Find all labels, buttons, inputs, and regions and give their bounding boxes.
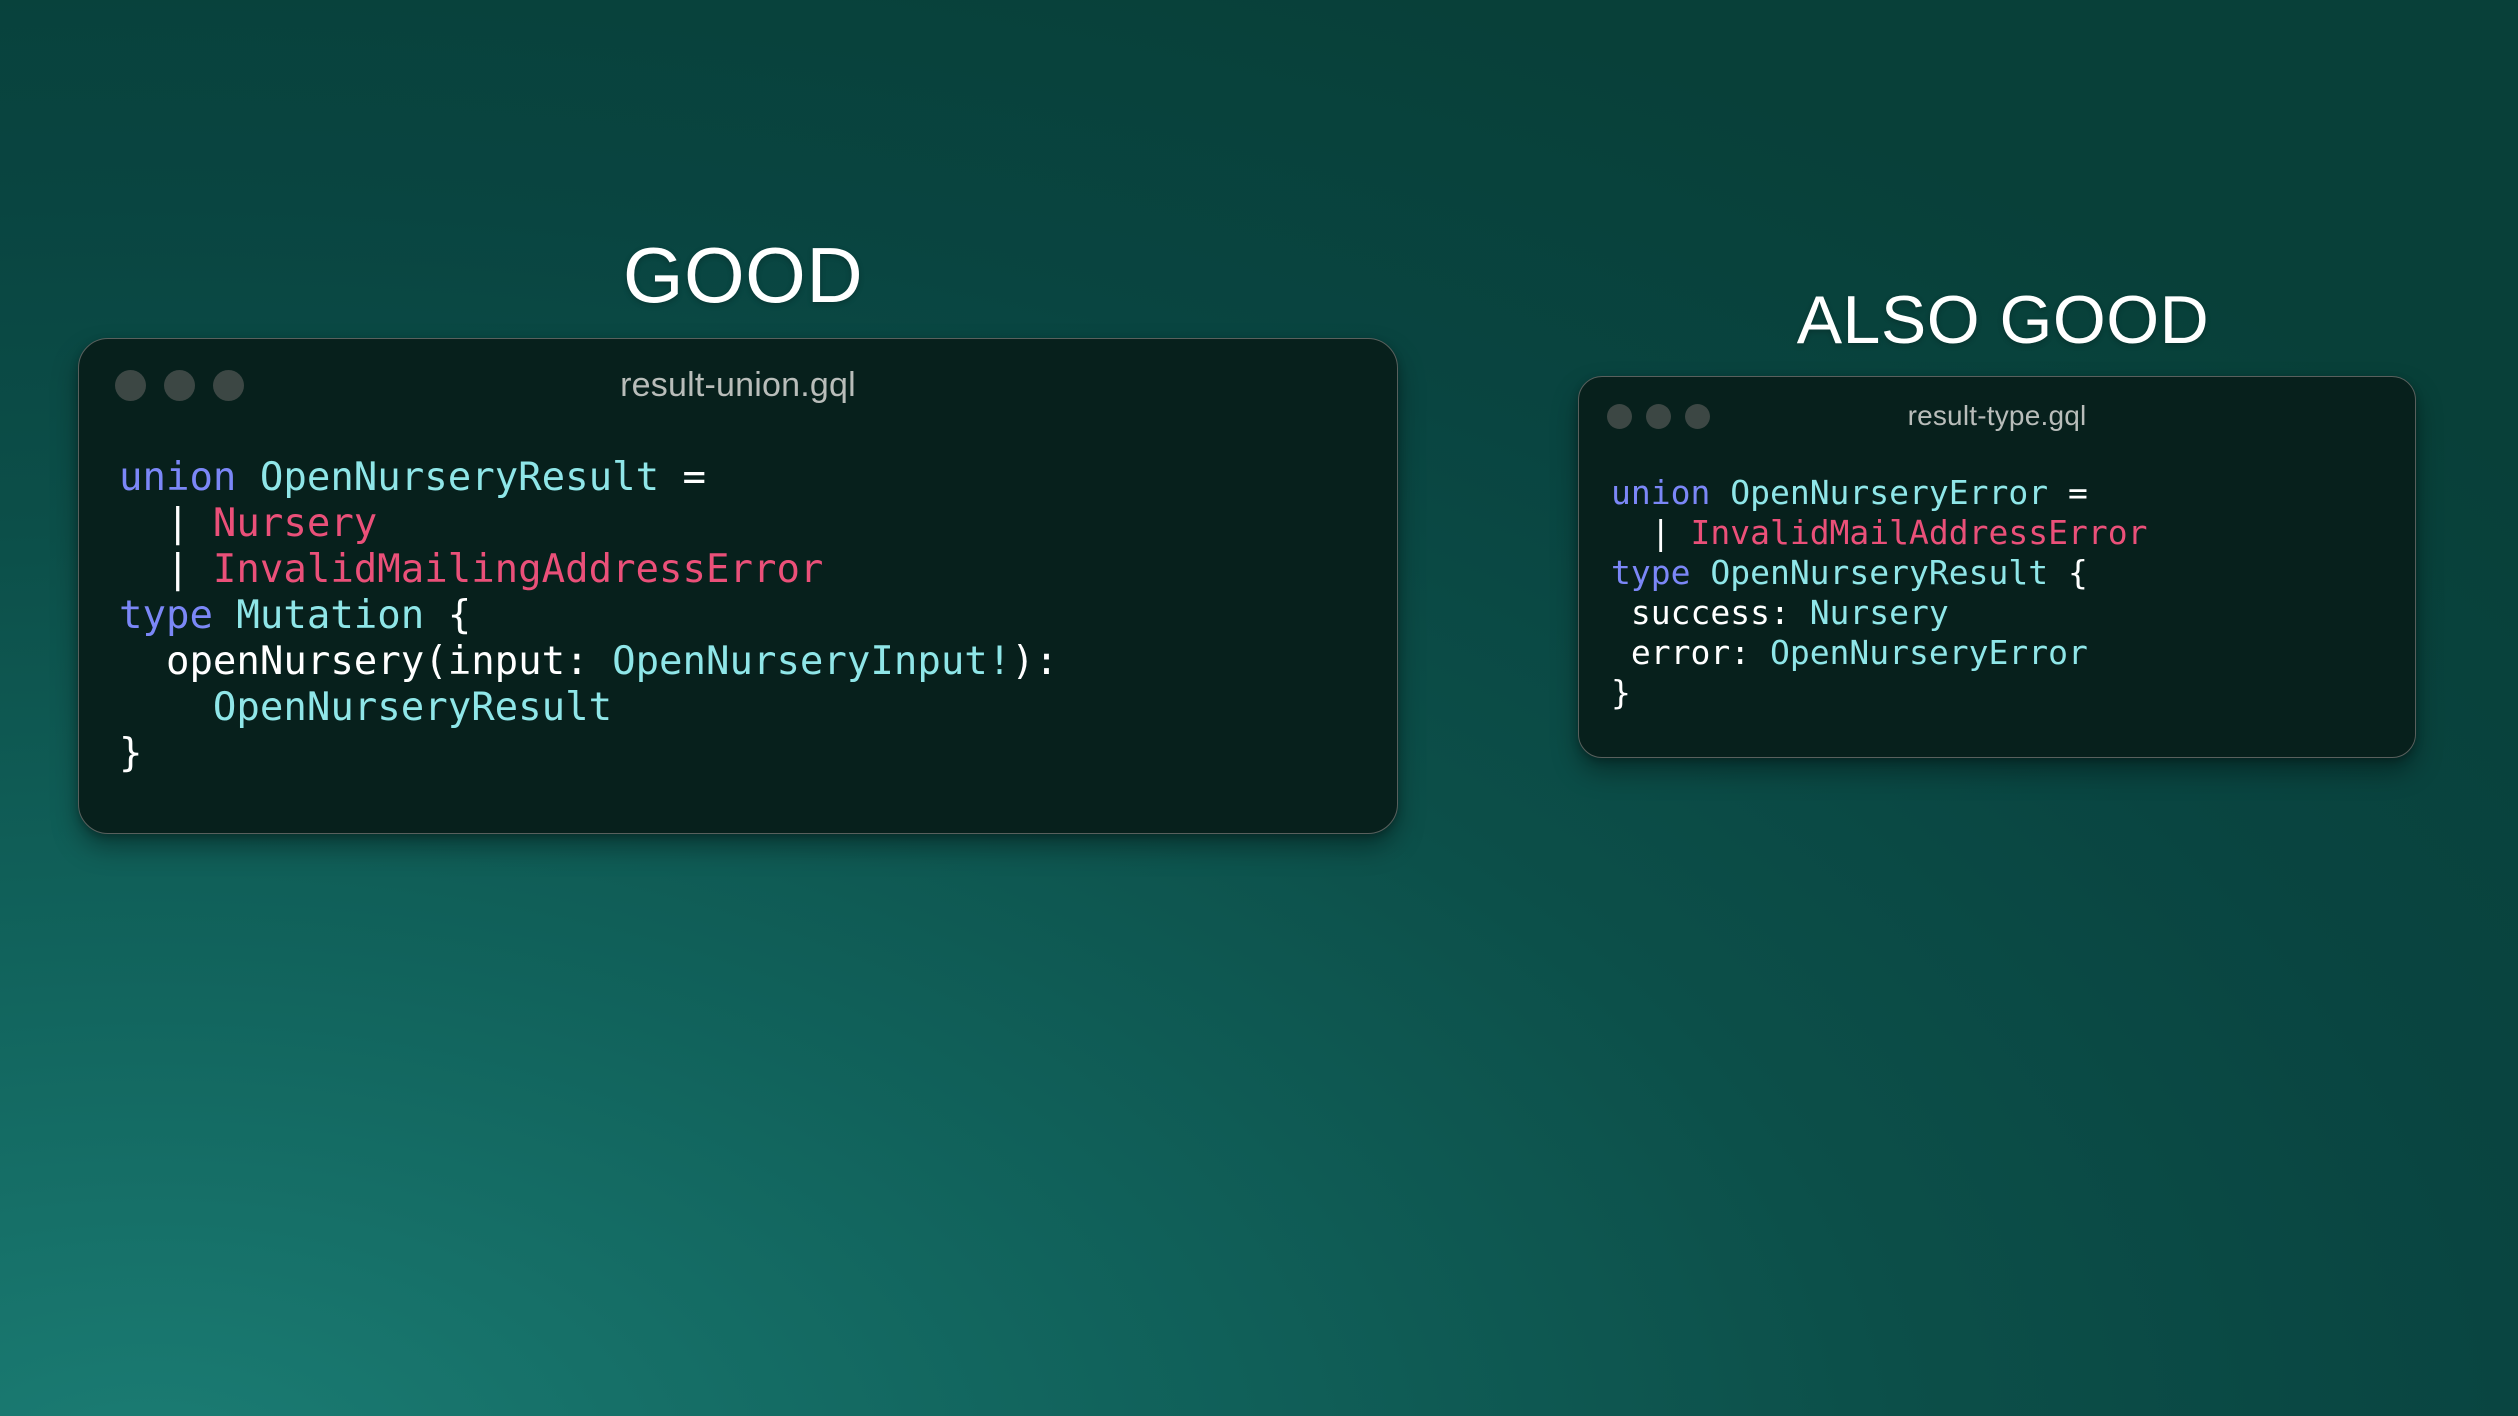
code-token-plain: =	[683, 455, 706, 500]
code-token-err: Nursery	[213, 501, 377, 546]
code-line: }	[119, 731, 1357, 777]
window-dot-maximize-icon[interactable]	[213, 370, 244, 401]
code-line: union OpenNurseryError =	[1611, 473, 2383, 513]
panel-heading-good: GOOD	[78, 236, 1408, 314]
code-token-type: OpenNurseryResult	[260, 455, 683, 500]
code-line: union OpenNurseryResult =	[119, 455, 1357, 501]
comparison-panel-good: GOOD result-union.gql union OpenNurseryR…	[78, 236, 1408, 834]
comparison-panel-also-good: ALSO GOOD result-type.gql union OpenNurs…	[1578, 286, 2428, 758]
code-line: type OpenNurseryResult {	[1611, 553, 2383, 593]
window-titlebar-also-good: result-type.gql	[1579, 377, 2415, 455]
code-token-type: Nursery	[1810, 593, 1949, 632]
code-line: error: OpenNurseryError	[1611, 633, 2383, 673]
code-token-plain: success:	[1611, 593, 1810, 632]
code-line: | Nursery	[119, 501, 1357, 547]
code-token-type: OpenNurseryError	[1730, 473, 2068, 512]
code-line: }	[1611, 673, 2383, 713]
code-token-err: InvalidMailingAddressError	[213, 547, 823, 592]
code-token-type: OpenNurseryResult	[1710, 553, 2068, 592]
code-token-type: OpenNurseryInput!	[612, 639, 1011, 684]
code-token-kw: type	[119, 593, 236, 638]
code-token-plain: {	[448, 593, 471, 638]
code-token-kw: union	[1611, 473, 1730, 512]
code-token-plain: error:	[1611, 633, 1770, 672]
window-dot-maximize-icon[interactable]	[1685, 404, 1710, 429]
code-line: | InvalidMailAddressError	[1611, 513, 2383, 553]
code-window-also-good: result-type.gql union OpenNurseryError =…	[1578, 376, 2416, 758]
code-line: OpenNurseryResult	[119, 685, 1357, 731]
code-block-also-good: union OpenNurseryError = | InvalidMailAd…	[1579, 455, 2415, 757]
code-token-kw: union	[119, 455, 260, 500]
window-dot-minimize-icon[interactable]	[1646, 404, 1671, 429]
code-line: | InvalidMailingAddressError	[119, 547, 1357, 593]
code-token-plain: =	[2068, 473, 2088, 512]
window-filename-good: result-union.gql	[79, 366, 1397, 405]
code-token-kw: type	[1611, 553, 1710, 592]
window-dot-close-icon[interactable]	[115, 370, 146, 401]
window-dot-minimize-icon[interactable]	[164, 370, 195, 401]
code-line: type Mutation {	[119, 593, 1357, 639]
code-token-plain: |	[119, 501, 213, 546]
code-token-plain: |	[119, 547, 213, 592]
window-titlebar-good: result-union.gql	[79, 339, 1397, 431]
code-token-plain: }	[119, 731, 142, 776]
code-line: openNursery(input: OpenNurseryInput!):	[119, 639, 1357, 685]
code-token-type: OpenNurseryResult	[213, 685, 612, 730]
code-token-plain: |	[1611, 513, 1690, 552]
code-token-plain: }	[1611, 673, 1631, 712]
code-token-type: OpenNurseryError	[1770, 633, 2088, 672]
code-token-plain	[119, 685, 213, 730]
code-block-good: union OpenNurseryResult = | Nursery | In…	[79, 431, 1397, 833]
code-window-good: result-union.gql union OpenNurseryResult…	[78, 338, 1398, 834]
code-token-type: Mutation	[236, 593, 447, 638]
window-traffic-lights-good	[115, 370, 244, 401]
window-traffic-lights-also-good	[1607, 404, 1710, 429]
window-dot-close-icon[interactable]	[1607, 404, 1632, 429]
code-token-plain: openNursery(input:	[119, 639, 612, 684]
code-token-plain: ):	[1011, 639, 1058, 684]
panel-heading-also-good: ALSO GOOD	[1578, 286, 2428, 354]
code-token-plain: {	[2068, 553, 2088, 592]
code-token-err: InvalidMailAddressError	[1690, 513, 2147, 552]
code-line: success: Nursery	[1611, 593, 2383, 633]
